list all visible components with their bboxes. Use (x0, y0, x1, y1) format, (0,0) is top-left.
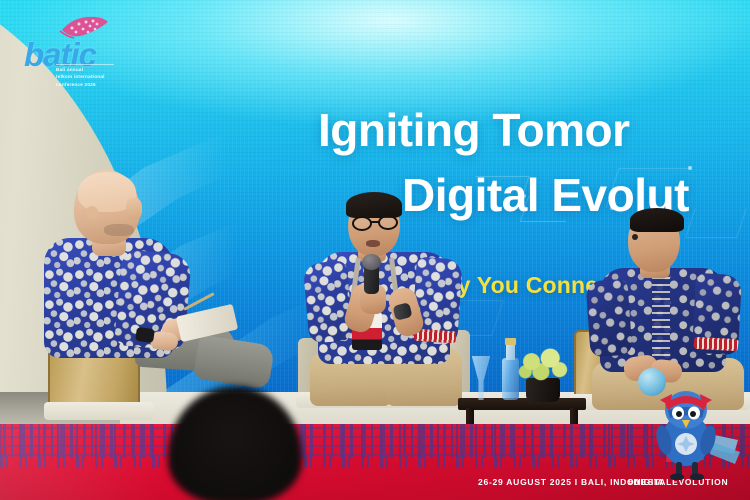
glasses-lens-left (352, 216, 372, 231)
beard-left (104, 224, 134, 236)
hair-right (630, 208, 684, 232)
bird-mascot (652, 378, 742, 480)
logo-subtitle-line-3: conference 2025 (56, 81, 136, 88)
logo-subtitle-line-1: Bali annual (56, 66, 136, 73)
chair-left-seat (44, 402, 154, 420)
batic-logo: batic Bali annual telkom international c… (24, 14, 134, 86)
hair-center (346, 192, 402, 218)
shirt-center-sleeve-left (303, 260, 354, 344)
logo-subtitle: Bali annual telkom international confere… (56, 66, 136, 88)
conference-photo: Igniting Tomor Digital Evolut e Way You … (0, 0, 750, 500)
flower-arrangement (518, 348, 570, 384)
shirt-right-placket (652, 272, 670, 370)
mouth-center (366, 240, 380, 247)
water-bottle-cap (505, 338, 516, 345)
table-top (458, 398, 586, 410)
glasses-lens-right (378, 215, 398, 230)
stage-apron (0, 424, 750, 500)
shirt-right-sleeve-left (585, 279, 632, 358)
microphone-head-icon (362, 254, 381, 270)
logo-subtitle-line-2: telkom international (56, 73, 136, 80)
face-profile-left (126, 198, 142, 220)
headline-line-1: Igniting Tomor (318, 104, 630, 156)
glasses-bridge (371, 221, 379, 223)
logo-divider (56, 64, 114, 65)
eye-right-panelist (632, 234, 638, 240)
water-bottle-neck (506, 344, 515, 360)
wristwatch-left (135, 327, 155, 343)
water-bottle (502, 358, 519, 400)
sleeve-trim-right (694, 337, 739, 351)
headline-line-2: Digital Evolut (402, 163, 750, 228)
ear-left (86, 206, 98, 219)
apron-lighting (0, 424, 750, 500)
